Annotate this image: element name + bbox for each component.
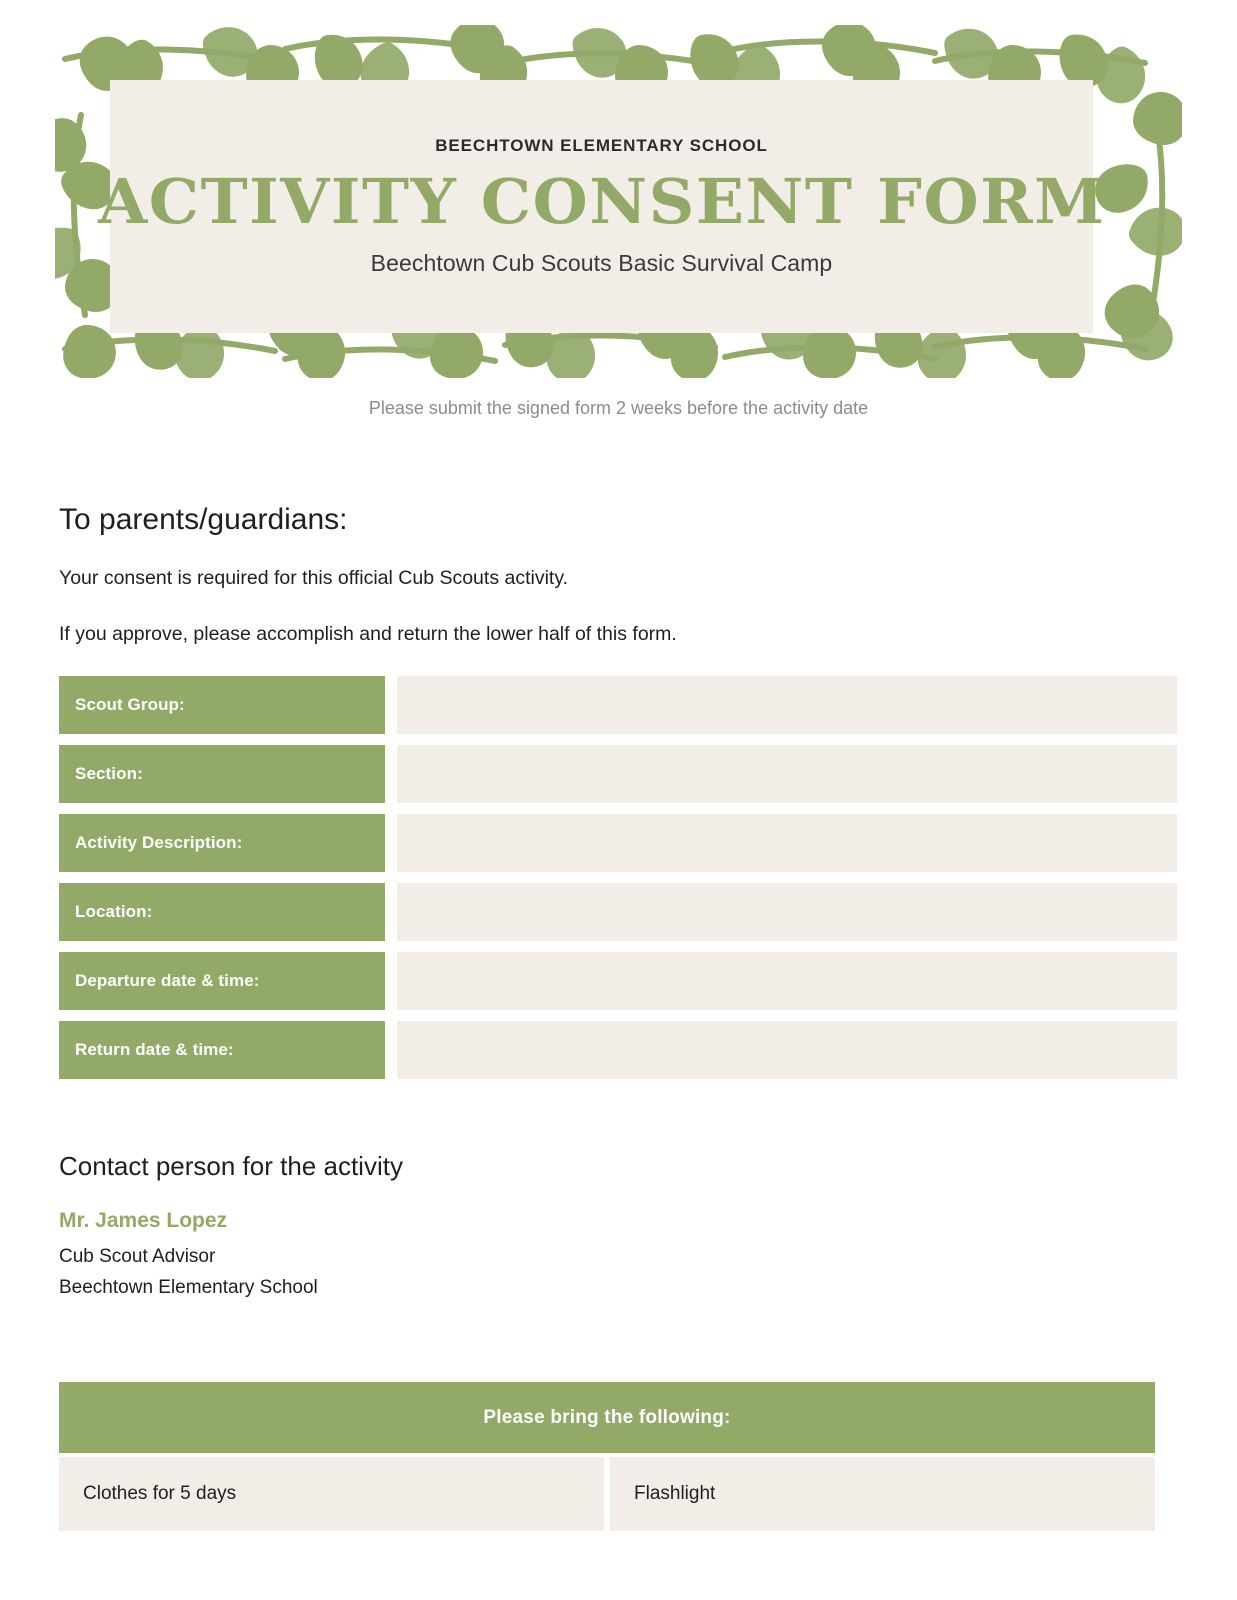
field-input-activity-description[interactable] (397, 814, 1177, 872)
document-page: BEECHTOWN ELEMENTARY SCHOOL ACTIVITY CON… (0, 0, 1237, 1600)
field-input-scout-group[interactable] (397, 676, 1177, 734)
table-row: Departure date & time: (59, 952, 1177, 1010)
list-item: Flashlight (610, 1457, 1155, 1531)
table-row: Scout Group: (59, 676, 1177, 734)
header-title-card: BEECHTOWN ELEMENTARY SCHOOL ACTIVITY CON… (110, 80, 1093, 333)
field-input-section[interactable] (397, 745, 1177, 803)
table-row: Section: (59, 745, 1177, 803)
submission-note: Please submit the signed form 2 weeks be… (0, 398, 1237, 419)
bring-list-row: Clothes for 5 days Flashlight (59, 1457, 1155, 1531)
bring-list-section: Please bring the following: Clothes for … (59, 1382, 1155, 1531)
consent-statement-line-1: Your consent is required for this offici… (59, 567, 568, 590)
field-label-return-date-time: Return date & time: (59, 1021, 385, 1079)
contact-person-school: Beechtown Elementary School (59, 1277, 318, 1299)
contact-section-heading: Contact person for the activity (59, 1151, 403, 1182)
table-row: Activity Description: (59, 814, 1177, 872)
activity-details-table: Scout Group: Section: Activity Descripti… (59, 676, 1177, 1079)
field-label-section: Section: (59, 745, 385, 803)
field-input-location[interactable] (397, 883, 1177, 941)
field-label-activity-description: Activity Description: (59, 814, 385, 872)
table-row: Return date & time: (59, 1021, 1177, 1079)
contact-person-name: Mr. James Lopez (59, 1209, 227, 1233)
field-label-scout-group: Scout Group: (59, 676, 385, 734)
document-header: BEECHTOWN ELEMENTARY SCHOOL ACTIVITY CON… (55, 25, 1182, 378)
table-row: Location: (59, 883, 1177, 941)
contact-person-role: Cub Scout Advisor (59, 1246, 215, 1268)
field-input-return-date-time[interactable] (397, 1021, 1177, 1079)
form-subtitle: Beechtown Cub Scouts Basic Survival Camp (371, 250, 833, 277)
bring-list-header: Please bring the following: (59, 1382, 1155, 1453)
field-input-departure-date-time[interactable] (397, 952, 1177, 1010)
school-name: BEECHTOWN ELEMENTARY SCHOOL (435, 136, 768, 156)
field-label-location: Location: (59, 883, 385, 941)
list-item: Clothes for 5 days (59, 1457, 604, 1531)
to-parents-heading: To parents/guardians: (59, 503, 348, 537)
consent-statement-line-2: If you approve, please accomplish and re… (59, 623, 677, 646)
field-label-departure-date-time: Departure date & time: (59, 952, 385, 1010)
page-title: ACTIVITY CONSENT FORM (98, 170, 1106, 233)
